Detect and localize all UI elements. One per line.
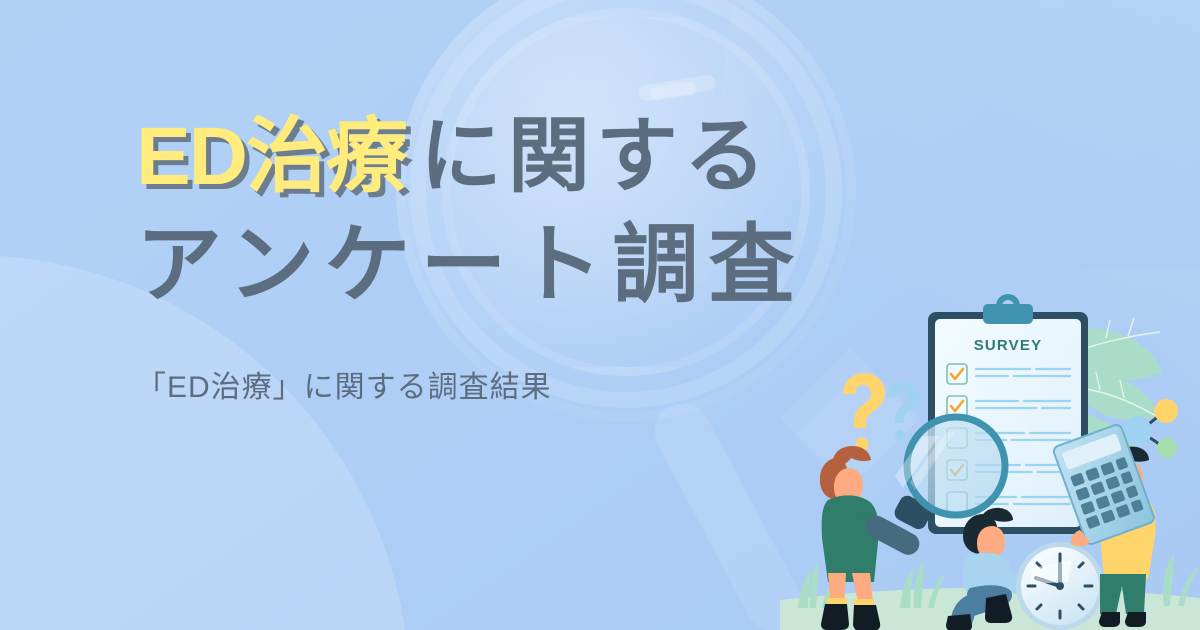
headline-line-2: アンケート調査	[136, 222, 876, 308]
headline-line-1-rest: に関する	[420, 111, 772, 202]
subtitle: 「ED治療」に関する調査結果	[136, 362, 876, 406]
hero-banner: ED治療に関する アンケート調査 「ED治療」に関する調査結果	[0, 0, 1200, 630]
survey-illustration: SURVEY	[780, 268, 1200, 630]
clipboard-clip	[983, 304, 1033, 324]
headline-block: ED治療に関する アンケート調査 「ED治療」に関する調査結果	[136, 116, 876, 406]
clock-icon	[1016, 542, 1104, 630]
headline-line-1: ED治療に関する	[136, 116, 876, 198]
headline-highlight-term: ED治療	[136, 111, 406, 202]
survey-heading: SURVEY	[974, 337, 1043, 354]
